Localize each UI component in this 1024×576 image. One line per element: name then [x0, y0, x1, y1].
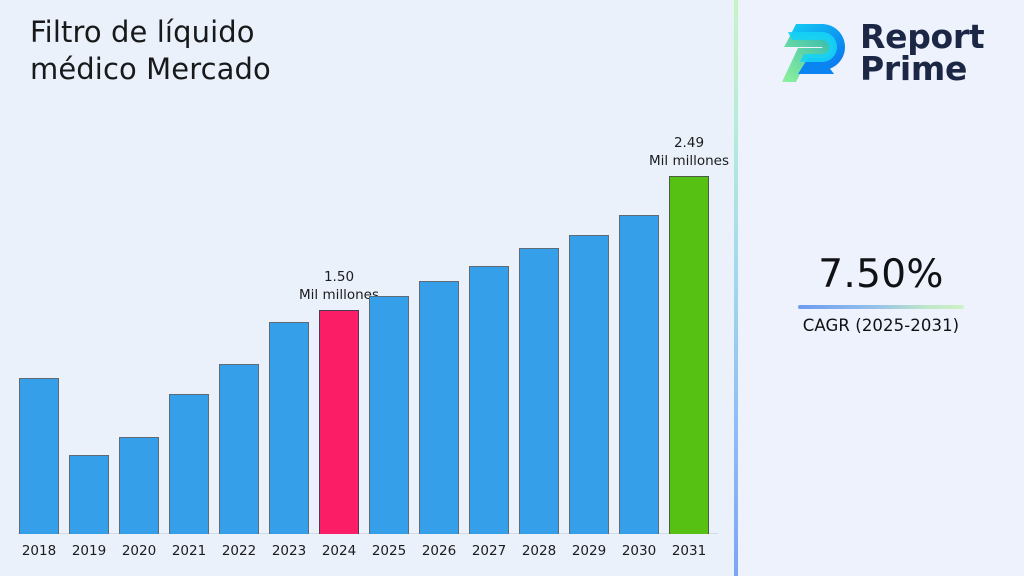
- bar-group-2023[interactable]: 2023: [269, 322, 309, 534]
- cagr-label: CAGR (2025-2031): [738, 316, 1024, 335]
- cagr-divider-rule: [798, 305, 964, 309]
- x-axis-tick-2030: 2030: [622, 543, 656, 559]
- report-prime-mark-icon: [778, 18, 850, 88]
- bar-2028[interactable]: [519, 248, 559, 534]
- x-axis-tick-2021: 2021: [172, 543, 206, 559]
- bar-group-2018[interactable]: 2018: [19, 378, 59, 534]
- x-axis-tick-2029: 2029: [572, 543, 606, 559]
- brand-panel: Report Prime 7.50% CAGR (2025-2031): [738, 0, 1024, 576]
- bar-group-2030[interactable]: 2030: [619, 215, 659, 534]
- bar-value-label-2024: 1.50Mil millones: [299, 269, 379, 304]
- bar-2018[interactable]: [19, 378, 59, 534]
- x-axis-tick-2022: 2022: [222, 543, 256, 559]
- x-axis-tick-2031: 2031: [672, 543, 706, 559]
- x-axis-tick-2027: 2027: [472, 543, 506, 559]
- bar-group-2024[interactable]: 1.50Mil millones2024: [319, 310, 359, 534]
- report-prime-logo: Report Prime: [778, 14, 1004, 92]
- x-axis-tick-2028: 2028: [522, 543, 556, 559]
- cagr-block: 7.50% CAGR (2025-2031): [738, 255, 1024, 335]
- x-axis-tick-2020: 2020: [122, 543, 156, 559]
- bar-group-2020[interactable]: 2020: [119, 437, 159, 534]
- chart-panel: Filtro de líquido médico Mercado 2018201…: [0, 0, 735, 576]
- bar-group-2027[interactable]: 2027: [469, 266, 509, 534]
- bar-group-2031[interactable]: 2.49Mil millones2031: [669, 176, 709, 534]
- bar-chart-plot-area: 2018201920202021202220231.50Mil millones…: [0, 0, 735, 576]
- bar-group-2021[interactable]: 2021: [169, 394, 209, 534]
- x-axis-tick-2023: 2023: [272, 543, 306, 559]
- x-axis-tick-2024: 2024: [322, 543, 356, 559]
- bar-group-2026[interactable]: 2026: [419, 281, 459, 534]
- bar-2030[interactable]: [619, 215, 659, 534]
- bar-value-number-2031: 2.49: [649, 135, 729, 152]
- bar-group-2029[interactable]: 2029: [569, 235, 609, 534]
- bar-2025[interactable]: [369, 296, 409, 534]
- bar-value-label-2031: 2.49Mil millones: [649, 135, 729, 170]
- bar-group-2022[interactable]: 2022: [219, 364, 259, 534]
- bar-group-2028[interactable]: 2028: [519, 248, 559, 534]
- bar-2024[interactable]: [319, 310, 359, 534]
- bar-2021[interactable]: [169, 394, 209, 534]
- bar-group-2025[interactable]: 2025: [369, 296, 409, 534]
- brand-name: Report Prime: [860, 21, 984, 86]
- bar-2020[interactable]: [119, 437, 159, 534]
- bar-2031[interactable]: [669, 176, 709, 534]
- bar-value-unit-2031: Mil millones: [649, 153, 729, 170]
- bar-2029[interactable]: [569, 235, 609, 534]
- bar-2027[interactable]: [469, 266, 509, 534]
- cagr-value: 7.50%: [738, 255, 1024, 296]
- bar-value-unit-2024: Mil millones: [299, 287, 379, 304]
- bar-2023[interactable]: [269, 322, 309, 534]
- x-axis-tick-2026: 2026: [422, 543, 456, 559]
- x-axis-tick-2018: 2018: [22, 543, 56, 559]
- bar-2022[interactable]: [219, 364, 259, 534]
- x-axis-tick-2025: 2025: [372, 543, 406, 559]
- bar-2019[interactable]: [69, 455, 109, 534]
- bar-value-number-2024: 1.50: [299, 269, 379, 286]
- bar-group-2019[interactable]: 2019: [69, 455, 109, 534]
- x-axis-tick-2019: 2019: [72, 543, 106, 559]
- bar-2026[interactable]: [419, 281, 459, 534]
